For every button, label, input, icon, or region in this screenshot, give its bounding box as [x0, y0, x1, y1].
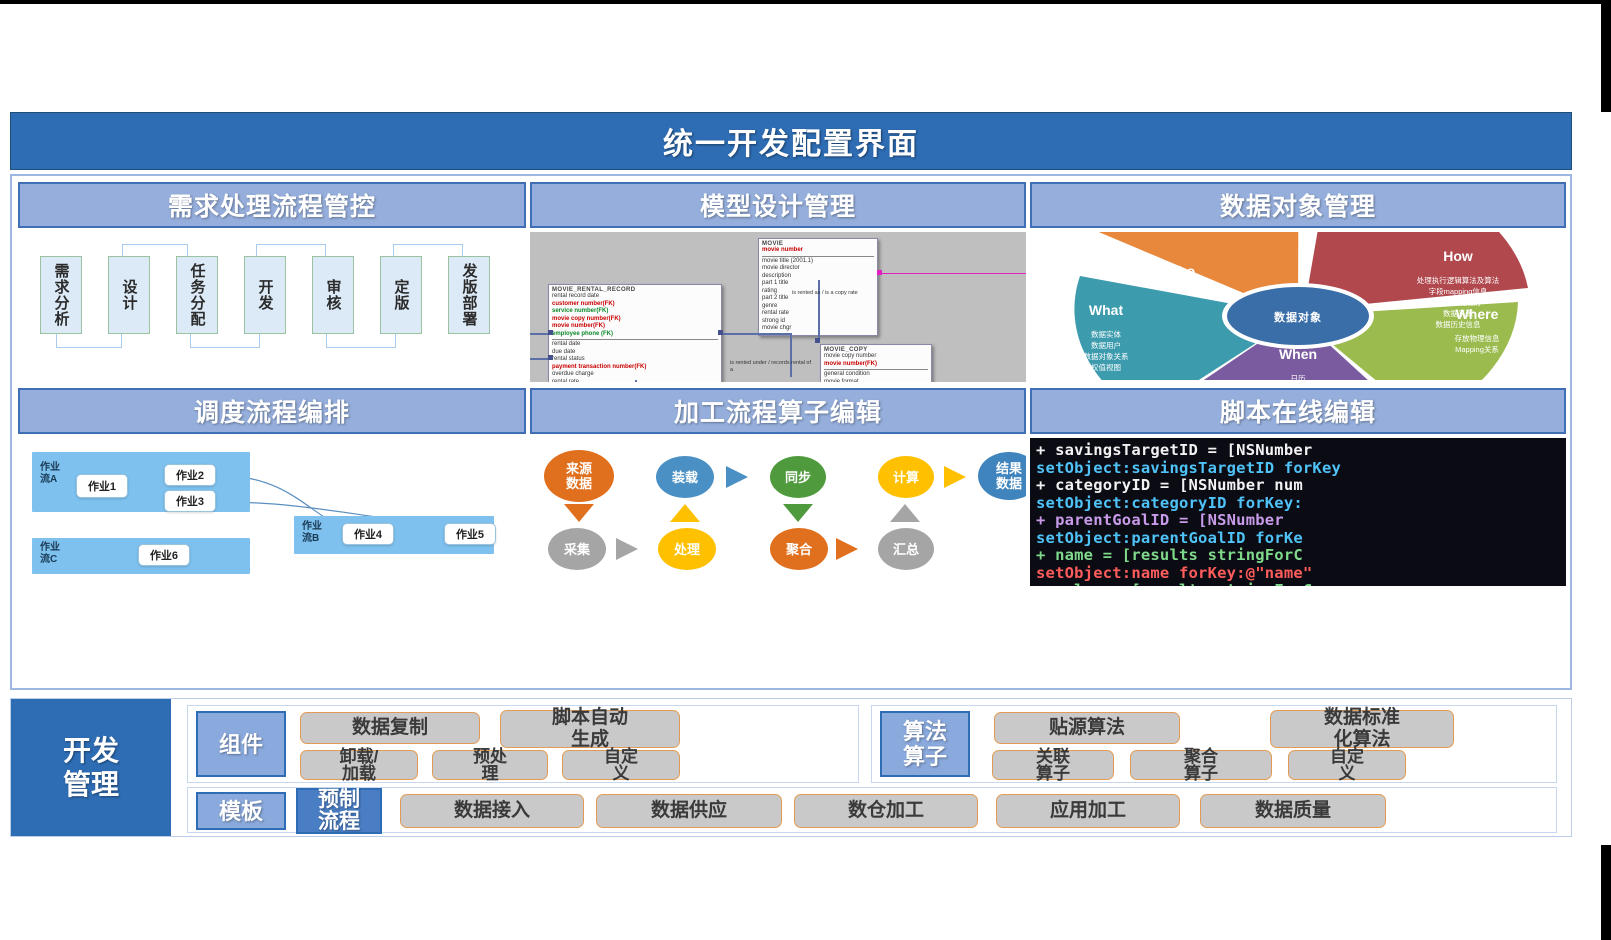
category-tile-template-label: 模板	[219, 799, 263, 824]
job-flow-canvas: 作业 流A 作业1 作业2 作业3 作业 流B 作业4 作业5 作业 流	[18, 438, 526, 586]
dev-management-content: 组件 数据复制 脚本自动 生成 卸载/ 加载 预处 理 自定	[171, 699, 1573, 836]
operator-node-load[interactable]: 装载	[656, 456, 714, 498]
category-tile-algorithm-label: 算法 算子	[903, 719, 947, 769]
er-field: rental status	[552, 356, 718, 364]
category-tile-preset-flow-label: 预制 流程	[318, 789, 360, 833]
dev-management-section: 开发 管理 组件 数据复制 脚本自动 生成 卸载/ 加载	[10, 698, 1572, 837]
panel-row-1: 需求处理流程管控 需求分析 设计	[18, 182, 1566, 382]
chip-label: 数据质量	[1255, 800, 1331, 822]
data-object-header: 数据对象管理	[1030, 182, 1566, 228]
chip-label: 聚合 算子	[1184, 748, 1218, 782]
code-line: + name = [results stringForC	[1036, 547, 1566, 565]
script-edit-title: 脚本在线编辑	[1220, 393, 1376, 429]
operator-pipeline: 来源 数据 装载 同步 计算 结果 数据	[530, 438, 1026, 586]
flow-step-1[interactable]: 需求分析	[40, 256, 82, 334]
chip-label: 自定 义	[1330, 748, 1364, 782]
er-table-movie-key: movie number	[762, 247, 874, 255]
chip-data-quality[interactable]: 数据质量	[1200, 794, 1386, 828]
chip-label: 数据供应	[651, 800, 727, 822]
chip-label: 自定 义	[604, 748, 638, 782]
pie-svg	[1030, 232, 1566, 380]
chip-warehouse-process[interactable]: 数仓加工	[794, 794, 978, 828]
requirement-process-panel[interactable]: 需求处理流程管控 需求分析 设计	[18, 182, 526, 382]
job-group-b-label: 作业 流B	[302, 521, 334, 545]
arrow-right-icon	[726, 466, 748, 488]
operator-node-sync[interactable]: 同步	[770, 456, 826, 498]
er-field: customer number(FK)	[552, 301, 718, 309]
code-line: setObject:savingsTargetID forKey	[1036, 460, 1566, 478]
operator-node-summary[interactable]: 汇总	[878, 528, 934, 570]
schedule-orchestration-body: 作业 流A 作业1 作业2 作业3 作业 流B 作业4 作业5 作业 流	[18, 438, 526, 586]
code-line: + categoryID = [NSNumber num	[1036, 477, 1566, 495]
code-line: + color = [results stringForCo	[1036, 582, 1566, 586]
arrow-down-icon	[564, 504, 594, 522]
job-node-3[interactable]: 作业3	[164, 490, 216, 512]
requirement-process-title: 需求处理流程管控	[168, 187, 376, 223]
chip-label: 卸载/ 加载	[340, 748, 379, 782]
data-object-title: 数据对象管理	[1220, 187, 1376, 223]
chip-label: 贴源算法	[1049, 717, 1125, 739]
code-line: setObject:categoryID forKey:	[1036, 495, 1566, 513]
flow-step-2-label: 设计	[119, 279, 140, 311]
category-tile-preset-flow[interactable]: 预制 流程	[296, 788, 382, 834]
data-object-panel[interactable]: 数据对象管理	[1030, 182, 1566, 382]
chip-label: 数据接入	[454, 800, 530, 822]
er-field: movie number(FK)	[552, 323, 718, 331]
er-field: payment transaction number(FK)	[552, 364, 718, 372]
bottom-edge-strip	[0, 0, 1611, 4]
page-title: 统一开发配置界面	[663, 119, 919, 163]
er-field: movie format	[824, 379, 928, 383]
er-relation-note-2: is rented under / records rental of a	[730, 360, 814, 374]
er-table-rental-record[interactable]: MOVIE_RENTAL_RECORD rental record date c…	[548, 284, 722, 382]
chip-label: 数据复制	[352, 717, 428, 739]
operator-node-compute[interactable]: 计算	[878, 456, 934, 498]
er-field: general condition	[824, 371, 928, 379]
er-field: movie copy number(FK)	[552, 316, 718, 324]
chip-data-supply[interactable]: 数据供应	[596, 794, 782, 828]
model-design-body: MOVIE movie number movie title (2001.1) …	[530, 232, 1026, 382]
category-tile-component-label: 组件	[219, 732, 263, 757]
data-object-body: Who 数据对象定义信息 What 数据实体 数据用户 数据对象关系 权值视图 …	[1030, 232, 1566, 382]
er-field: movie number(FK)	[824, 361, 928, 369]
operator-node-collect[interactable]: 采集	[548, 528, 606, 570]
panels-container: 需求处理流程管控 需求分析 设计	[10, 174, 1572, 690]
er-field: rental record date	[552, 293, 718, 301]
flow-step-5-label: 审核	[323, 279, 344, 311]
schedule-orchestration-header: 调度流程编排	[18, 388, 526, 434]
chip-label: 预处 理	[473, 748, 507, 782]
operator-node-source[interactable]: 来源 数据	[544, 450, 614, 502]
chip-data-ingest[interactable]: 数据接入	[400, 794, 584, 828]
job-group-c-label: 作业 流C	[40, 542, 72, 566]
chip-label: 数据标准 化算法	[1324, 707, 1400, 751]
arrow-right-icon	[616, 538, 638, 560]
flow-step-3[interactable]: 任务分配	[176, 256, 218, 334]
chip-label: 脚本自动 生成	[552, 707, 628, 751]
er-field: employee phone (FK)	[552, 331, 718, 339]
job-group-a[interactable]: 作业 流A	[32, 452, 250, 512]
flow-step-6-label: 定版	[391, 279, 412, 311]
schedule-orchestration-panel[interactable]: 调度流程编排 作业 流A	[18, 388, 526, 586]
operator-edit-header: 加工流程算子编辑	[530, 388, 1026, 434]
category-tile-algorithm[interactable]: 算法 算子	[880, 711, 970, 777]
chip-aggregate-operator[interactable]: 聚合 算子	[1130, 750, 1272, 780]
chip-source-algorithm[interactable]: 贴源算法	[994, 712, 1180, 744]
er-diagram: MOVIE movie number movie title (2001.1) …	[530, 232, 1026, 382]
operator-node-result[interactable]: 结果 数据	[978, 452, 1026, 500]
operator-node-aggregate[interactable]: 聚合	[770, 528, 828, 570]
model-design-panel[interactable]: 模型设计管理 MOVIE movie number movie title (2…	[530, 182, 1026, 382]
script-edit-body: + savingsTargetID = [NSNumber setObject:…	[1030, 438, 1566, 586]
operator-node-process[interactable]: 处理	[658, 528, 716, 570]
flow-step-5[interactable]: 审核	[312, 256, 354, 334]
job-node-6[interactable]: 作业6	[138, 544, 190, 566]
er-field: overdue charge	[552, 371, 718, 379]
right-edge-strip-bottom	[1601, 845, 1611, 940]
arrow-up-icon	[890, 504, 920, 522]
code-line: + savingsTargetID = [NSNumber	[1036, 442, 1566, 460]
architecture-diagram: 统一开发配置界面 需求处理流程管控	[10, 112, 1580, 837]
er-field: movie title (2001.1)	[762, 258, 874, 266]
chip-join-operator[interactable]: 关联 算子	[992, 750, 1114, 780]
arrow-up-icon	[670, 504, 700, 522]
dev-management-title: 开发 管理	[63, 734, 119, 802]
slide-root: 统一开发配置界面 需求处理流程管控	[0, 0, 1611, 940]
schedule-orchestration-title: 调度流程编排	[194, 393, 350, 429]
job-node-1[interactable]: 作业1	[76, 474, 128, 498]
operator-edit-title: 加工流程算子编辑	[674, 393, 882, 429]
er-field: description	[762, 273, 874, 281]
template-group: 模板 预制 流程 数据接入 数据供应 数仓加工 应用加工	[187, 787, 1557, 833]
script-edit-panel[interactable]: 脚本在线编辑 + savingsTargetID = [NSNumber set…	[1030, 388, 1566, 586]
chip-label: 应用加工	[1050, 800, 1126, 822]
chip-custom-algorithm[interactable]: 自定 义	[1288, 750, 1406, 780]
model-design-title: 模型设计管理	[700, 187, 856, 223]
category-tile-template[interactable]: 模板	[196, 792, 286, 830]
requirement-process-body: 需求分析 设计 任务分配 开发 审核 定版 发版部署	[18, 232, 526, 382]
dev-management-label: 开发 管理	[11, 699, 171, 836]
chip-unload-load[interactable]: 卸载/ 加载	[300, 750, 418, 780]
code-line: + parentGoalID = [NSNumber	[1036, 512, 1566, 530]
category-tile-component[interactable]: 组件	[196, 711, 286, 777]
code-line: setObject:name forKey:@"name"	[1036, 565, 1566, 583]
arrow-right-icon	[836, 538, 858, 560]
chip-application-process[interactable]: 应用加工	[996, 794, 1180, 828]
flow-step-3-label: 任务分配	[187, 263, 208, 327]
chip-script-autogen[interactable]: 脚本自动 生成	[500, 710, 680, 748]
arrow-right-icon	[944, 466, 966, 488]
flow-step-4[interactable]: 开发	[244, 256, 286, 334]
flow-step-7[interactable]: 发版部署	[448, 256, 490, 334]
operator-edit-panel[interactable]: 加工流程算子编辑 来源 数据 装载 同步 计算 结果 数据	[530, 388, 1026, 586]
er-field: due date	[552, 349, 718, 357]
er-field: service number(FK)	[552, 308, 718, 316]
er-field: movie director	[762, 265, 874, 273]
chip-standardization-algorithm[interactable]: 数据标准 化算法	[1270, 710, 1454, 748]
flow-step-4-label: 开发	[255, 279, 276, 311]
component-group: 组件 数据复制 脚本自动 生成 卸载/ 加载 预处 理 自定	[187, 705, 859, 783]
er-field: movie copy number	[824, 353, 928, 361]
panel-row-2: 调度流程编排 作业 流A	[18, 388, 1566, 586]
main-title-bar: 统一开发配置界面	[10, 112, 1572, 170]
code-line: setObject:parentGoalID forKe	[1036, 530, 1566, 548]
job-node-4[interactable]: 作业4	[342, 523, 394, 545]
right-edge-strip-top	[1601, 0, 1611, 112]
operator-edit-body: 来源 数据 装载 同步 计算 结果 数据	[530, 438, 1026, 586]
arrow-down-icon	[783, 504, 813, 522]
model-design-header: 模型设计管理	[530, 182, 1026, 228]
algorithm-group: 算法 算子 贴源算法 数据标准 化算法 关联 算子 聚合 算子	[871, 705, 1557, 783]
code-editor[interactable]: + savingsTargetID = [NSNumber setObject:…	[1030, 438, 1566, 586]
script-edit-header: 脚本在线编辑	[1030, 388, 1566, 434]
flow-step-6[interactable]: 定版	[380, 256, 422, 334]
chip-data-replication[interactable]: 数据复制	[300, 712, 480, 744]
flow-step-1-label: 需求分析	[51, 263, 72, 327]
pie-center-text: 数据对象	[1252, 309, 1344, 325]
chip-preprocess[interactable]: 预处 理	[432, 750, 548, 780]
requirement-flow-chart: 需求分析 设计 任务分配 开发 审核 定版 发版部署	[18, 232, 526, 382]
job-group-a-label: 作业 流A	[40, 462, 72, 486]
flow-step-7-label: 发版部署	[459, 263, 480, 327]
five-w-pie-chart: Who 数据对象定义信息 What 数据实体 数据用户 数据对象关系 权值视图 …	[1030, 232, 1566, 382]
er-table-movie-copy[interactable]: MOVIE_COPY movie copy number movie numbe…	[820, 344, 932, 382]
job-node-2[interactable]: 作业2	[164, 464, 216, 486]
chip-custom-component[interactable]: 自定 义	[562, 750, 680, 780]
flow-step-2[interactable]: 设计	[108, 256, 150, 334]
chip-label: 数仓加工	[848, 800, 924, 822]
er-field: rental date	[552, 341, 718, 349]
er-relation-note-1: is rented as / is a copy rate	[792, 290, 858, 297]
job-node-5[interactable]: 作业5	[444, 523, 496, 545]
chip-label: 关联 算子	[1036, 748, 1070, 782]
requirement-process-header: 需求处理流程管控	[18, 182, 526, 228]
